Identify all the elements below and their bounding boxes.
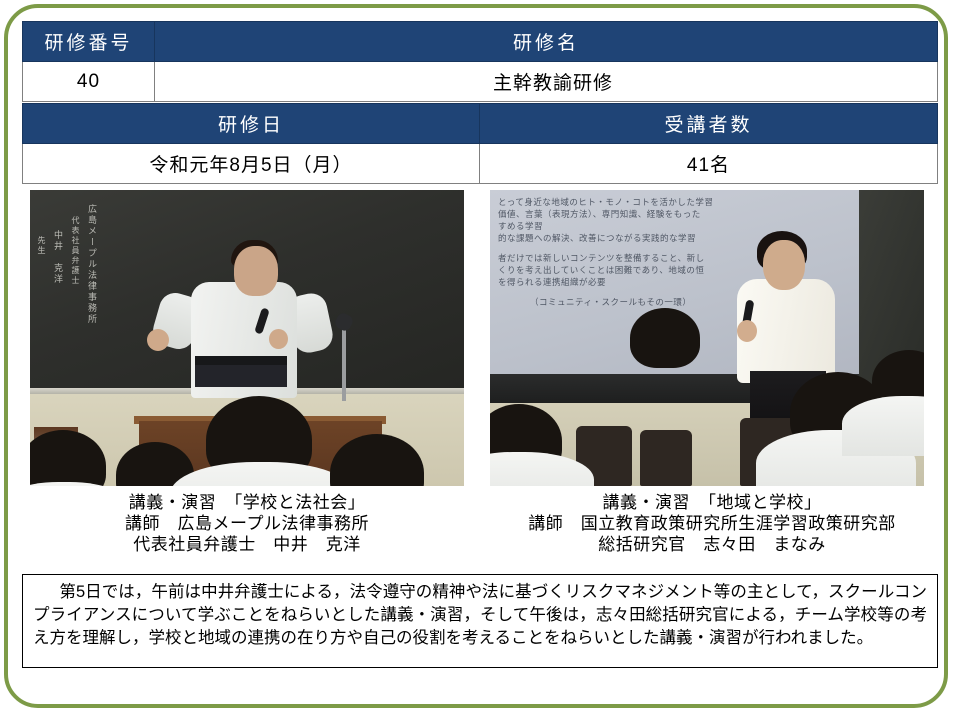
lecturer-head [234, 246, 278, 296]
value-participant-count: 41名 [480, 144, 938, 184]
speaker-head [763, 240, 805, 290]
table-row: 研修番号 研修名 [23, 22, 938, 62]
slide-text-block-3: （コミュニティ・スクールもその一環） [530, 296, 691, 308]
table-row: 40 主幹教諭研修 [23, 62, 938, 102]
value-training-name: 主幹教諭研修 [155, 62, 938, 102]
header-training-number: 研修番号 [23, 22, 155, 62]
training-summary-table: 研修番号 研修名 40 主幹教諭研修 [22, 21, 938, 102]
chalkboard-line-1: 広島メープル法律事務所 [86, 204, 97, 325]
audience-head [630, 308, 700, 368]
value-training-number: 40 [23, 62, 155, 102]
header-participant-count: 受講者数 [480, 104, 938, 144]
lecturer-belt [195, 356, 287, 365]
table-row: 令和元年8月5日（月） 41名 [23, 144, 938, 184]
header-training-name: 研修名 [155, 22, 938, 62]
header-training-date: 研修日 [23, 104, 480, 144]
training-date-table: 研修日 受講者数 令和元年8月5日（月） 41名 [22, 103, 938, 184]
slide-text-block-2: 者だけでは新しいコンテンツを整備すること、新し くりを考え出していくことは困難で… [498, 252, 705, 288]
photo-lecture-school-and-law-society: 広島メープル法律事務所 代表社員弁護士 中井 克洋 先生 [30, 190, 464, 486]
caption-right-photo: 講義・演習 「地域と学校」 講師 国立教育政策研究所生涯学習政策研究部 総括研究… [486, 492, 938, 555]
slide-text-block-1: とって身近な地域のヒト・モノ・コトを活かした学習 価値、言葉（表現方法）、専門知… [498, 196, 713, 244]
caption-left-photo: 講義・演習 「学校と法社会」 講師 広島メープル法律事務所 代表社員弁護士 中井… [22, 492, 472, 555]
page-content: 研修番号 研修名 40 主幹教諭研修 研修日 受講者数 令和元年8月5日（月） … [0, 0, 960, 720]
lecturer-right-hand [269, 329, 288, 349]
photo-lecture-community-and-school: とって身近な地域のヒト・モノ・コトを活かした学習 価値、言葉（表現方法）、専門知… [490, 190, 924, 486]
chalkboard-line-3: 中井 克洋 [52, 230, 63, 285]
chalkboard-line-4: 先生 [36, 236, 47, 256]
value-training-date: 令和元年8月5日（月） [23, 144, 480, 184]
chair [640, 430, 692, 486]
description-box: 第5日では，午前は中井弁護士による，法令遵守の精神や法に基づくリスクマネジメント… [22, 574, 938, 668]
table-row: 研修日 受講者数 [23, 104, 938, 144]
microphone-stand [342, 323, 346, 401]
chalkboard-line-2: 代表社員弁護士 [70, 216, 81, 286]
description-text: 第5日では，午前は中井弁護士による，法令遵守の精神や法に基づくリスクマネジメント… [33, 581, 927, 650]
lecturer-trousers [195, 365, 287, 387]
